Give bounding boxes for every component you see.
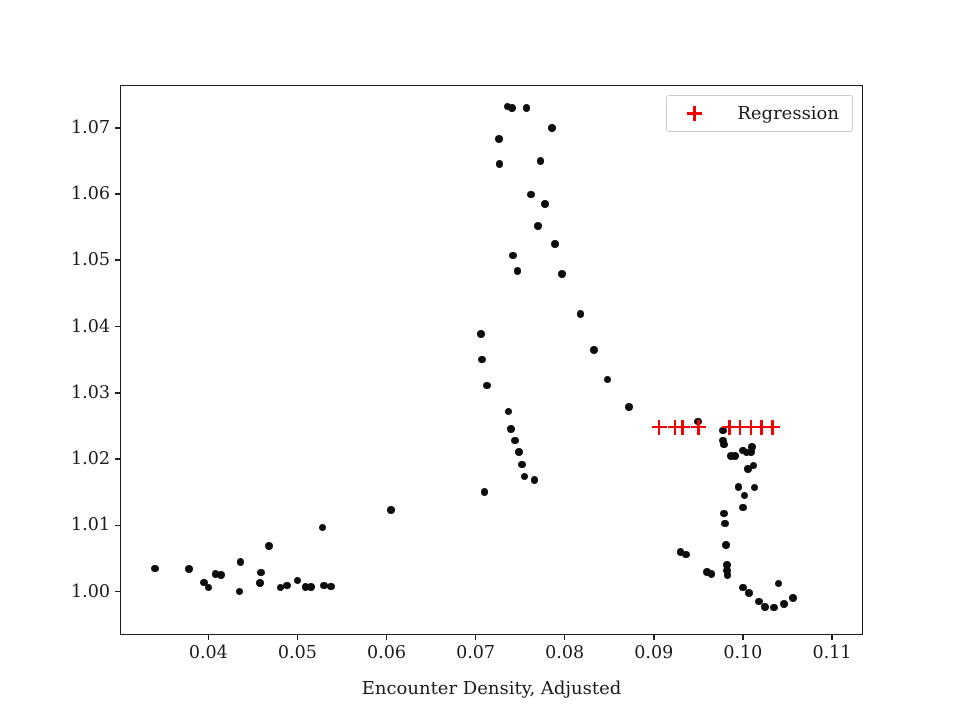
data-point bbox=[307, 583, 315, 591]
y-tick-label: 1.03 bbox=[71, 383, 110, 403]
plot-area: 0.040.050.060.070.080.090.100.11 1.001.0… bbox=[120, 85, 863, 635]
y-tick-label: 1.06 bbox=[71, 184, 110, 204]
data-point bbox=[511, 437, 519, 445]
data-point bbox=[548, 124, 556, 132]
data-point bbox=[724, 571, 732, 579]
data-point bbox=[750, 462, 758, 470]
data-point bbox=[294, 577, 302, 585]
data-point bbox=[780, 600, 788, 608]
x-tick-label: 0.10 bbox=[723, 643, 762, 663]
data-point bbox=[739, 504, 747, 512]
legend-plus-icon bbox=[677, 106, 711, 122]
y-tick-label: 1.04 bbox=[71, 317, 110, 337]
data-point bbox=[531, 476, 539, 484]
data-point bbox=[387, 506, 395, 514]
data-point bbox=[518, 461, 526, 469]
y-tick bbox=[115, 326, 121, 328]
x-tick bbox=[653, 634, 655, 640]
y-tick-label: 1.01 bbox=[71, 515, 110, 535]
x-tick-label: 0.11 bbox=[812, 643, 851, 663]
data-point bbox=[265, 542, 273, 550]
legend[interactable]: Regression bbox=[666, 95, 853, 132]
data-point bbox=[527, 191, 535, 199]
data-point bbox=[477, 330, 485, 338]
data-point bbox=[507, 425, 515, 433]
data-point bbox=[735, 483, 743, 491]
data-point bbox=[319, 524, 327, 532]
data-point bbox=[217, 571, 225, 579]
data-point bbox=[151, 565, 159, 573]
regression-marker bbox=[691, 420, 706, 435]
y-tick-label: 1.07 bbox=[71, 118, 110, 138]
data-point bbox=[775, 580, 783, 588]
data-point bbox=[748, 443, 756, 451]
x-tick-label: 0.06 bbox=[367, 643, 406, 663]
y-tick-label: 1.00 bbox=[71, 582, 110, 602]
data-point bbox=[682, 551, 690, 559]
x-tick bbox=[208, 634, 210, 640]
data-point bbox=[509, 252, 517, 260]
scatter-plot-figure: 0.040.050.060.070.080.090.100.11 1.001.0… bbox=[0, 0, 960, 720]
x-tick bbox=[475, 634, 477, 640]
data-point bbox=[483, 382, 491, 390]
x-tick bbox=[742, 634, 744, 640]
data-point bbox=[625, 403, 633, 411]
regression-marker bbox=[652, 420, 667, 435]
x-tick-label: 0.09 bbox=[634, 643, 673, 663]
regression-marker bbox=[765, 420, 780, 435]
data-point bbox=[257, 569, 265, 577]
data-point bbox=[604, 376, 612, 384]
data-point bbox=[521, 473, 529, 481]
data-point bbox=[496, 160, 504, 168]
data-point bbox=[745, 589, 753, 597]
x-tick-label: 0.04 bbox=[189, 643, 228, 663]
data-point bbox=[508, 104, 516, 112]
y-tick-label: 1.05 bbox=[71, 250, 110, 270]
data-point bbox=[514, 267, 522, 275]
data-point bbox=[537, 157, 545, 165]
data-point bbox=[558, 270, 566, 278]
data-layer bbox=[121, 86, 862, 634]
y-tick bbox=[115, 193, 121, 195]
y-tick bbox=[115, 392, 121, 394]
data-point bbox=[205, 584, 213, 592]
data-point bbox=[720, 510, 728, 518]
data-point bbox=[515, 448, 523, 456]
x-tick-label: 0.07 bbox=[456, 643, 495, 663]
regression-marker bbox=[675, 420, 690, 435]
y-tick bbox=[115, 259, 121, 261]
data-point bbox=[731, 452, 739, 460]
x-tick bbox=[564, 634, 566, 640]
data-point bbox=[327, 583, 335, 591]
data-point bbox=[481, 488, 489, 496]
data-point bbox=[534, 222, 542, 230]
x-tick-label: 0.05 bbox=[278, 643, 317, 663]
data-point bbox=[577, 310, 585, 318]
x-tick bbox=[386, 634, 388, 640]
y-tick-label: 1.02 bbox=[71, 449, 110, 469]
data-point bbox=[789, 594, 797, 602]
y-tick bbox=[115, 591, 121, 593]
data-point bbox=[770, 604, 778, 612]
data-point bbox=[708, 570, 716, 578]
data-point bbox=[722, 541, 730, 549]
x-tick-label: 0.08 bbox=[545, 643, 584, 663]
x-axis-title: Encounter Density, Adjusted bbox=[120, 678, 863, 699]
data-point bbox=[541, 200, 549, 208]
legend-label: Regression bbox=[737, 103, 839, 124]
data-point bbox=[590, 346, 598, 354]
data-point bbox=[256, 579, 264, 587]
x-tick bbox=[831, 634, 833, 640]
data-point bbox=[761, 603, 769, 611]
data-point bbox=[237, 558, 245, 566]
data-point bbox=[720, 441, 728, 449]
data-point bbox=[495, 135, 503, 143]
data-point bbox=[478, 356, 486, 364]
data-point bbox=[751, 484, 759, 492]
data-point bbox=[721, 520, 729, 528]
data-point bbox=[523, 104, 531, 112]
data-point bbox=[236, 588, 244, 596]
data-point bbox=[551, 240, 559, 248]
y-tick bbox=[115, 458, 121, 460]
x-tick bbox=[297, 634, 299, 640]
y-tick bbox=[115, 525, 121, 527]
data-point bbox=[505, 408, 513, 416]
y-tick bbox=[115, 127, 121, 129]
data-point bbox=[283, 582, 291, 590]
data-point bbox=[741, 492, 749, 500]
data-point bbox=[185, 565, 193, 573]
